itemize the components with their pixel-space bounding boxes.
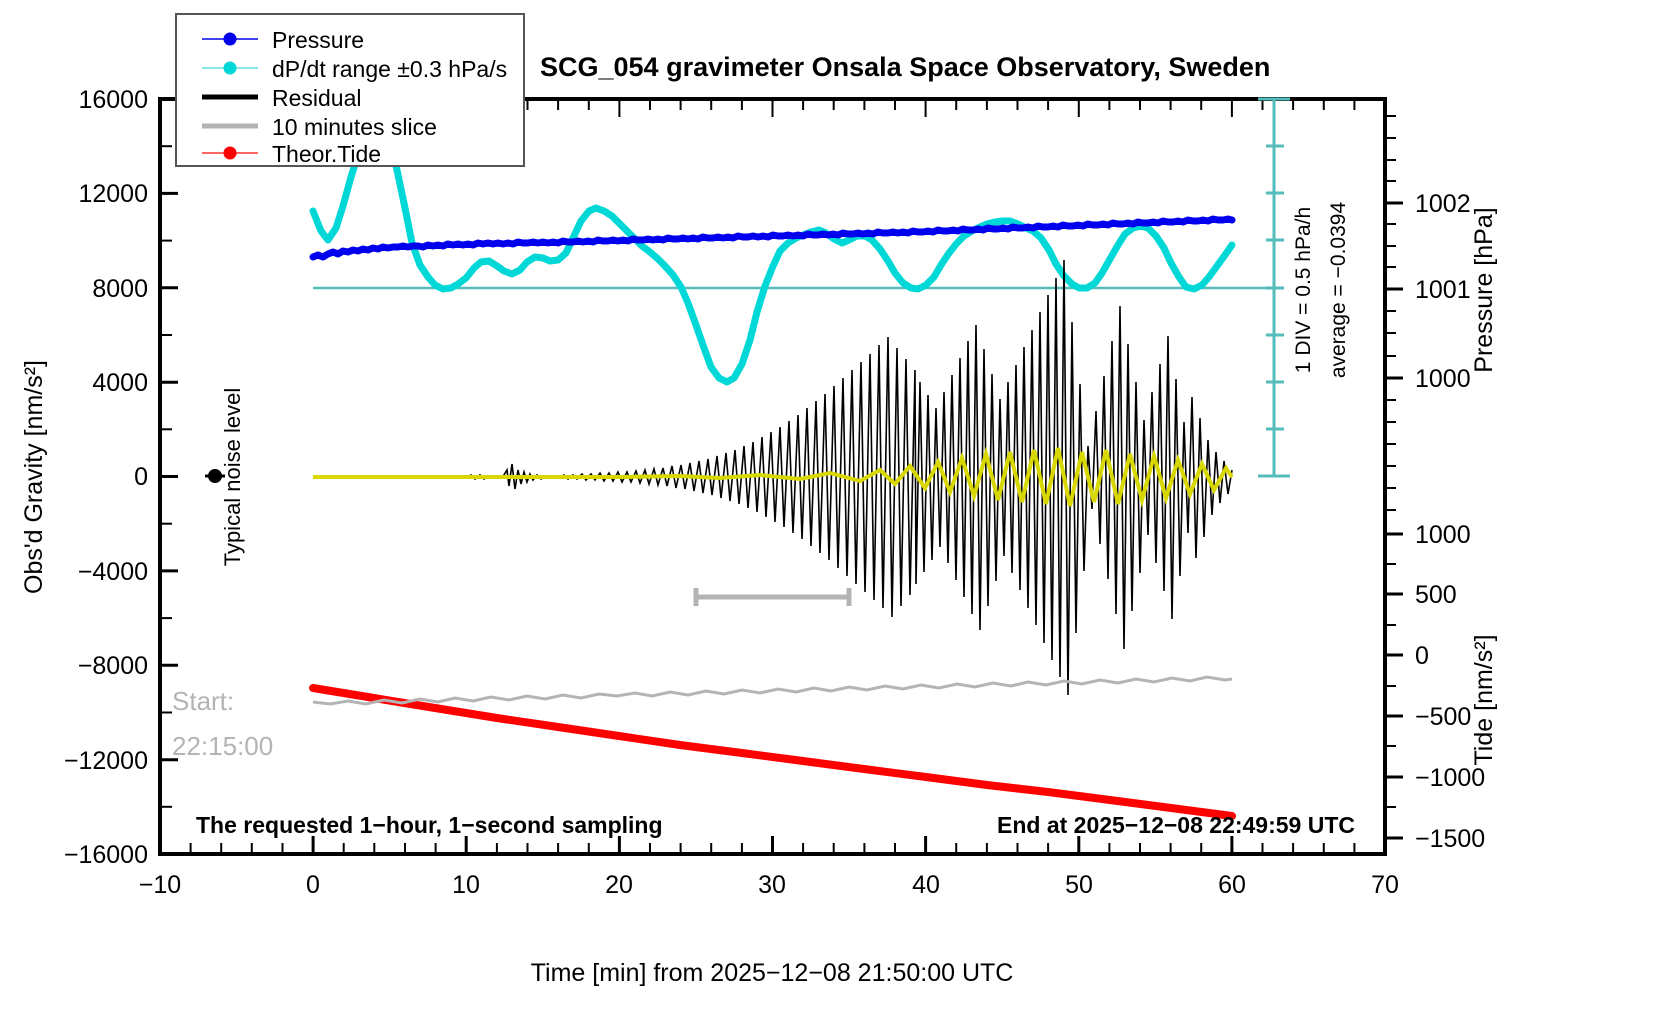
right-tide-tick-minus1500: −1500: [1415, 825, 1485, 853]
right-tide-tick-minus1000: −1000: [1415, 764, 1485, 792]
right-pressure-tick-1001: 1001: [1415, 276, 1471, 304]
left-tick-minus16000: −16000: [64, 841, 148, 869]
left-tick-4000: 4000: [92, 369, 148, 397]
right-pressure-tick-1002: 1002: [1415, 190, 1471, 218]
right-pressure-tick-1000: 1000: [1415, 365, 1471, 393]
legend-label-residual: Residual: [272, 85, 362, 111]
dpdt-scale-label: 1 DIV = 0.5 hPa/h: [1292, 207, 1315, 373]
left-tick-12000: 12000: [78, 180, 148, 208]
x-tick-minus10: −10: [139, 871, 181, 899]
legend-label-dpdt: dP/dt range ±0.3 hPa/s: [272, 56, 507, 82]
bottom-axis-title: Time [min] from 2025−12−08 21:50:00 UTC: [531, 959, 1014, 987]
x-tick-20: 20: [605, 871, 633, 899]
right-tide-tick-minus500: −500: [1415, 703, 1471, 731]
series-pressure: [313, 219, 1232, 257]
left-tick-minus8000: −8000: [78, 652, 148, 680]
left-tick-8000: 8000: [92, 275, 148, 303]
x-tick-30: 30: [758, 871, 786, 899]
right-tide-tick-500: 500: [1415, 581, 1457, 609]
x-tick-0: 0: [306, 871, 320, 899]
right-tide-axis-title: Tide [nm/s²]: [1470, 634, 1498, 765]
start-label: Start:: [172, 686, 234, 716]
footer-left: The requested 1−hour, 1−second sampling: [196, 812, 663, 838]
right-tide-tick-0: 0: [1415, 642, 1429, 670]
left-axis-title: Obs'd Gravity [nm/s²]: [20, 360, 48, 594]
typical-noise-label: Typical noise level: [220, 388, 245, 567]
x-tick-60: 60: [1218, 871, 1246, 899]
x-tick-70: 70: [1371, 871, 1399, 899]
x-tick-40: 40: [912, 871, 940, 899]
right-axis-ticks: [1385, 203, 1403, 838]
left-tick-0: 0: [134, 463, 148, 491]
start-time: 22:15:00: [172, 731, 273, 761]
gravimeter-chart-page: 16000 12000 8000 4000 0 −4000 −8000 −120…: [0, 0, 1676, 1020]
right-tide-tick-1000: 1000: [1415, 521, 1471, 549]
series-slice-trace: [313, 677, 1232, 704]
legend[interactable]: Pressure dP/dt range ±0.3 hPa/s Residual…: [176, 14, 524, 167]
legend-label-slice: 10 minutes slice: [272, 114, 437, 140]
left-tick-minus12000: −12000: [64, 747, 148, 775]
legend-label-theor-tide: Theor.Tide: [272, 141, 381, 167]
plot-svg: 16000 12000 8000 4000 0 −4000 −8000 −120…: [0, 0, 1676, 1020]
x-tick-10: 10: [452, 871, 480, 899]
slice-bar: [696, 588, 849, 606]
legend-label-pressure: Pressure: [272, 27, 364, 53]
page-title: SCG_054 gravimeter Onsala Space Observat…: [540, 52, 1270, 82]
left-tick-minus4000: −4000: [78, 558, 148, 586]
x-tick-50: 50: [1065, 871, 1093, 899]
right-pressure-axis-title: Pressure [hPa]: [1470, 207, 1498, 372]
footer-right: End at 2025−12−08 22:49:59 UTC: [997, 812, 1355, 838]
left-tick-16000: 16000: [78, 86, 148, 114]
series-theor-tide: [313, 688, 1232, 816]
dpdt-average-label: average = −0.0394: [1327, 202, 1350, 379]
